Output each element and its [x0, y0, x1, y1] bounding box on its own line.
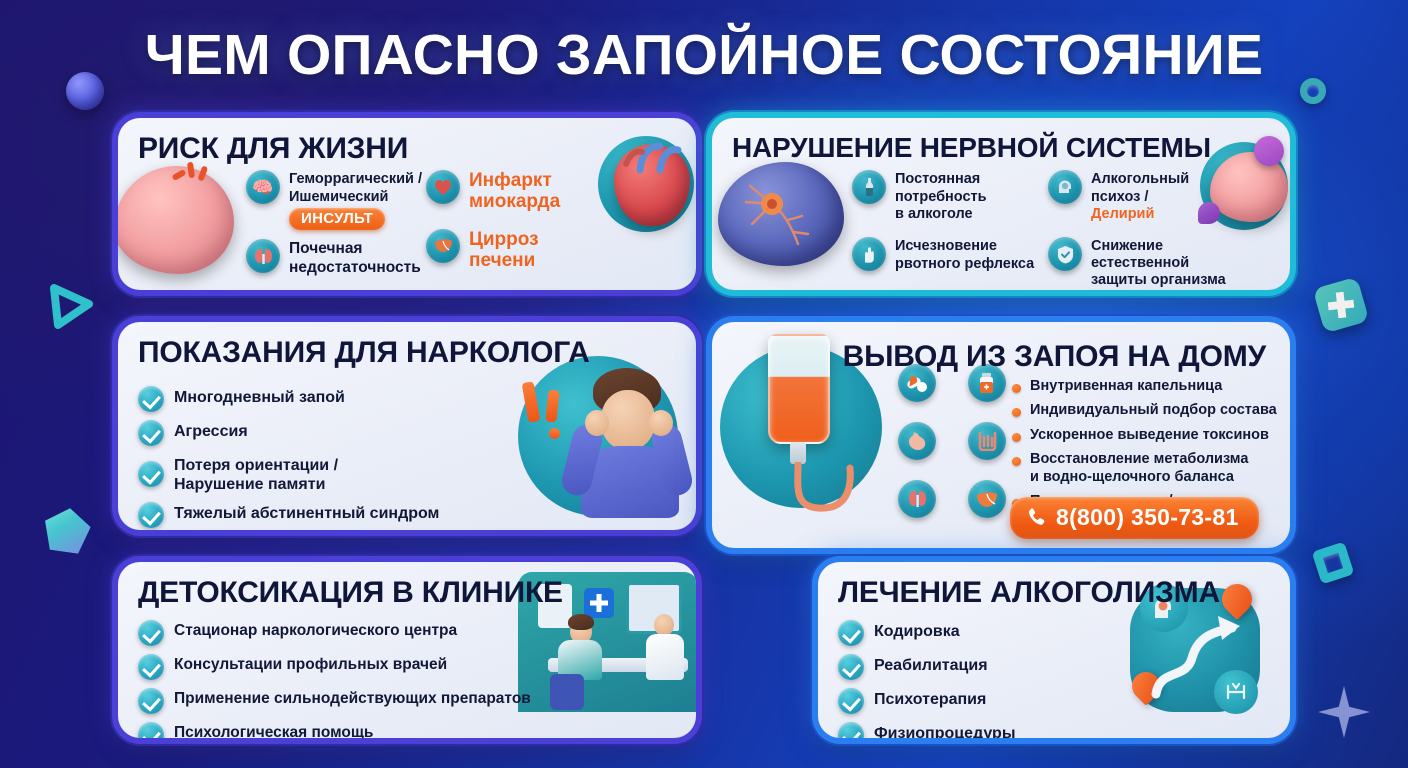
stroke-badge: ИНСУЛЬТ [289, 208, 385, 230]
card-heading: ЛЕЧЕНИЕ АЛКОГОЛИЗМА [838, 576, 1270, 610]
phone-cta-button[interactable]: 8(800) 350-73-81 [1010, 497, 1259, 539]
check-icon [138, 420, 164, 446]
brain-icon: 🧠 [246, 170, 280, 204]
heart-icon [426, 170, 460, 204]
card-risk-for-life: РИСК ДЛЯ ЖИЗНИ 🧠 Геморрагический / Ишеми… [118, 118, 696, 290]
list-item: Стационар наркологического центра [138, 620, 538, 646]
triangle-icon [44, 282, 96, 330]
head-brain-icon [1048, 170, 1082, 204]
check-icon [138, 386, 164, 412]
nervous-item-craving: Постоянная потребность в алкоголе [852, 170, 1037, 223]
risk-item-cirrhosis-line1: Цирроз [469, 229, 539, 250]
risk-item-stroke-line2: Ишемический [289, 188, 422, 206]
check-icon [838, 620, 864, 646]
list-item: Многодневный запой [138, 386, 468, 412]
risk-item-kidney-line2: недостаточность [289, 258, 421, 277]
card-clinic-detox: ДЕТОКСИКАЦИЯ В КЛИНИКЕ Стационар нарколо… [118, 562, 696, 738]
nervous-item-gag-reflex: Исчезновение рвотного рефлекса [852, 237, 1037, 272]
card-nervous-system: НАРУШЕНИЕ НЕРВНОЙ СИСТЕМЫ Постоянная пот… [712, 118, 1290, 290]
check-icon [838, 722, 864, 738]
cross-icon [1327, 291, 1356, 320]
triangle-outline-decoration [44, 282, 96, 330]
hand-icon [852, 237, 886, 271]
nervous-craving-line2: потребность [895, 188, 987, 206]
list-item: Физиопроцедуры [838, 722, 1118, 738]
risk-item-infarction-line1: Инфаркт [469, 170, 560, 191]
bullet-dot [1012, 457, 1021, 466]
nervous-gag-line1: Исчезновение [895, 237, 1034, 255]
card-heading: РИСК ДЛЯ ЖИЗНИ [138, 132, 676, 166]
liver-icon [426, 229, 460, 263]
nervous-item-psychosis: Алкогольный психоз / Делирий [1048, 170, 1258, 223]
bottle-icon [852, 170, 886, 204]
phone-number: 8(800) 350-73-81 [1056, 504, 1239, 531]
card-alcoholism-treatment: ЛЕЧЕНИЕ АЛКОГОЛИЗМА Кодировка Реабилитац… [818, 562, 1290, 738]
list-item: Ускоренное выведение токсинов [1012, 427, 1280, 444]
card-heading: ПОКАЗАНИЯ ДЛЯ НАРКОЛОГА [138, 336, 676, 370]
kidneys-icon [246, 239, 280, 273]
risk-item-infarction: Инфаркт миокарда [426, 170, 596, 213]
list-item: Потеря ориентации / Нарушение памяти [138, 454, 468, 494]
nervous-immunity-line2: защиты организма [1091, 271, 1258, 289]
bullet-dot [1012, 408, 1021, 417]
bullet-dot [1012, 433, 1021, 442]
check-icon [138, 688, 164, 714]
risk-item-kidney-line1: Почечная [289, 239, 421, 258]
list-item: Тяжелый абстинентный синдром [138, 502, 468, 528]
list-item: Внутривенная капельница [1012, 378, 1280, 395]
risk-item-infarction-line2: миокарда [469, 191, 560, 212]
check-icon [138, 461, 164, 487]
risk-item-stroke: 🧠 Геморрагический / Ишемический ИНСУЛЬТ [246, 170, 436, 230]
nervous-gag-line2: рвотного рефлекса [895, 255, 1034, 273]
narcologist-list: Многодневный запой Агрессия Потеря ориен… [138, 386, 468, 528]
list-item: Кодировка [838, 620, 1118, 646]
check-icon [138, 722, 164, 738]
list-item: Реабилитация [838, 654, 1118, 680]
shield-check-icon [1048, 237, 1082, 271]
clinic-detox-list: Стационар наркологического центра Консул… [138, 620, 538, 738]
check-icon [838, 688, 864, 714]
page-title: ЧЕМ ОПАСНО ЗАПОЙНОЕ СОСТОЯНИЕ [0, 22, 1408, 88]
alcoholism-list: Кодировка Реабилитация Психотерапия Физи… [838, 620, 1118, 738]
list-item: Индивидуальный подбор состава [1012, 402, 1280, 419]
nervous-psychosis-accent: Делирий [1091, 205, 1189, 223]
nervous-craving-line3: в алкоголе [895, 205, 987, 223]
card-heading: ДЕТОКСИКАЦИЯ В КЛИНИКЕ [138, 576, 676, 610]
check-icon [138, 620, 164, 646]
risk-item-cirrhosis: Цирроз печени [426, 229, 596, 272]
list-item: Психологическая помощь [138, 722, 538, 738]
nervous-item-immunity: Снижение естественной защиты организма [1048, 237, 1258, 289]
nervous-psychosis-line1: Алкогольный [1091, 170, 1189, 188]
nervous-psychosis-line2: психоз / [1091, 188, 1189, 206]
list-item: Применение сильнодействующих препаратов [138, 688, 538, 714]
list-item: Восстановление метаболизма и водно-щелоч… [1012, 451, 1280, 486]
card-narcologist-indications: ПОКАЗАНИЯ ДЛЯ НАРКОЛОГА Многодневный зап… [118, 322, 696, 530]
card-heading: НАРУШЕНИЕ НЕРВНОЙ СИСТЕМЫ [732, 132, 1270, 164]
list-item: Консультации профильных врачей [138, 654, 538, 680]
nervous-immunity-line1: Снижение естественной [1091, 237, 1258, 271]
card-home-detox: ВЫВОД ИЗ ЗАПОЯ НА ДОМУ Внутривенная капе… [712, 322, 1290, 548]
check-icon [138, 654, 164, 680]
risk-item-stroke-line1: Геморрагический / [289, 170, 422, 188]
phone-icon [1026, 507, 1047, 528]
risk-item-kidney-failure: Почечная недостаточность [246, 239, 436, 277]
bullet-dot [1012, 384, 1021, 393]
list-item: Агрессия [138, 420, 468, 446]
risk-item-cirrhosis-line2: печени [469, 250, 539, 271]
list-item: Психотерапия [838, 688, 1118, 714]
check-icon [138, 502, 164, 528]
check-icon [838, 654, 864, 680]
card-heading: ВЫВОД ИЗ ЗАПОЯ НА ДОМУ [732, 336, 1270, 374]
nervous-craving-line1: Постоянная [895, 170, 987, 188]
